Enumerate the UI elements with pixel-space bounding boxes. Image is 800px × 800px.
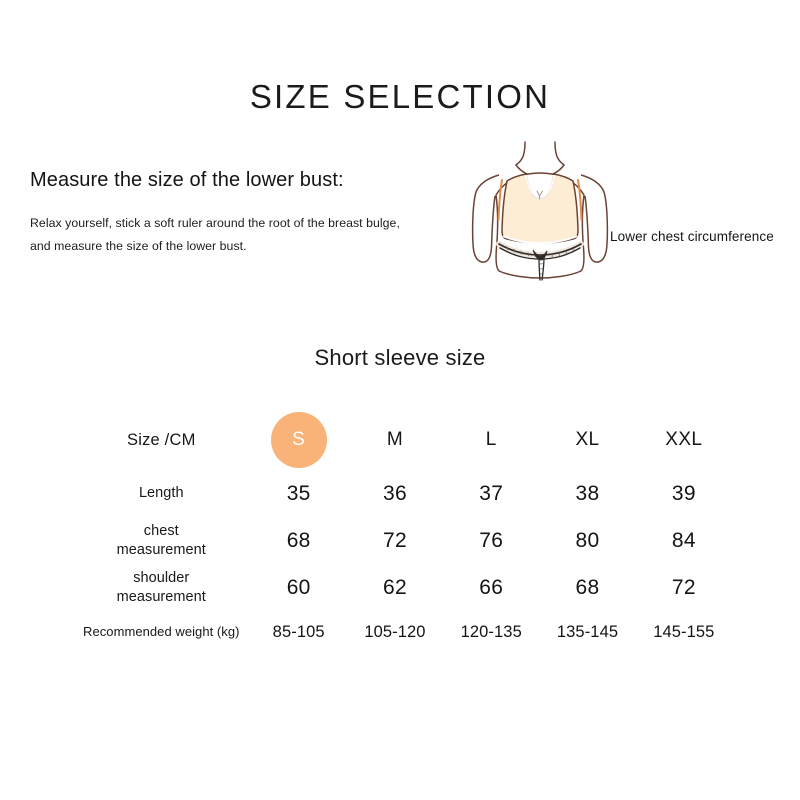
header-cell-s[interactable]: S [251,410,347,470]
header-cell-s-inner: S [251,410,347,470]
right-arm-outline [581,175,607,262]
header-cell-m[interactable]: M [347,410,443,470]
cell-shoulder-m: 62 [347,564,443,611]
cell-shoulder-xxl: 72 [636,564,732,611]
cell-weight-s: 85-105 [251,611,347,653]
cell-weight-l: 120-135 [443,611,539,653]
header-cell-xl-inner: XL [539,410,635,470]
cell-length-xxl: 39 [636,470,732,517]
cell-length-xl: 38 [539,470,635,517]
cell-weight-xxl: 145-155 [636,611,732,653]
table-row-recommended-weight: Recommended weight (kg) 85-105 105-120 1… [72,611,732,653]
header-cell-xl[interactable]: XL [539,410,635,470]
left-arm-outline [473,175,499,262]
measure-heading: Measure the size of the lower bust: [30,168,450,192]
cell-length-m: 36 [347,470,443,517]
table-row-length: Length 35 36 37 38 39 [72,470,732,517]
header-cell-size-label: Size /CM [72,410,251,470]
header-cell-m-inner: M [347,410,443,470]
header-cell-l[interactable]: L [443,410,539,470]
row-label-weight-line-1: Recommended weight (kg) [72,624,251,640]
header-cell-xxl[interactable]: XXL [636,410,732,470]
row-label-cell-shoulder: shoulder measurement [72,564,251,611]
cell-chest-m: 72 [347,517,443,564]
size-option-xxl[interactable]: XXL [665,429,702,451]
row-label-shoulder-line-1: shoulder [72,569,251,587]
measure-body-line-1: Relax yourself, stick a soft ruler aroun… [30,212,450,235]
page-title: SIZE SELECTION [0,78,800,116]
size-unit-label: Size /CM [72,431,251,450]
neck-outline [516,142,564,165]
size-option-s-selected[interactable]: S [271,412,327,468]
table-row-shoulder-measurement: shoulder measurement 60 62 66 68 72 [72,564,732,611]
section-subtitle: Short sleeve size [0,345,800,371]
torso-illustration [455,140,625,300]
size-option-l[interactable]: L [486,429,497,451]
size-option-m[interactable]: M [387,429,403,451]
cell-shoulder-xl: 68 [539,564,635,611]
row-label-chest-line-1: chest [72,522,251,540]
measure-instructions: Measure the size of the lower bust: Rela… [30,168,450,257]
size-chart-table: Size /CM S M L [72,410,732,653]
row-label-chest: chest measurement [72,522,251,558]
row-label-chest-line-2: measurement [72,541,251,559]
row-label-length-line-1: Length [72,484,251,502]
row-label-length: Length [72,484,251,502]
row-label-cell-chest: chest measurement [72,517,251,564]
measure-body-line-2: and measure the size of the lower bust. [30,235,450,258]
table-row-chest-measurement: chest measurement 68 72 76 80 84 [72,517,732,564]
row-label-shoulder: shoulder measurement [72,569,251,605]
size-selection-page: SIZE SELECTION Measure the size of the l… [0,0,800,800]
row-label-weight: Recommended weight (kg) [72,624,251,640]
cell-shoulder-s: 60 [251,564,347,611]
row-label-cell-weight: Recommended weight (kg) [72,611,251,653]
cell-chest-s: 68 [251,517,347,564]
measure-body-text: Relax yourself, stick a soft ruler aroun… [30,212,450,257]
header-cell-xxl-inner: XXL [636,410,732,470]
row-label-cell-length: Length [72,470,251,517]
cell-chest-l: 76 [443,517,539,564]
header-cell-l-inner: L [443,410,539,470]
cell-shoulder-l: 66 [443,564,539,611]
table-header-row: Size /CM S M L [72,410,732,470]
size-option-xl[interactable]: XL [575,429,599,451]
cell-length-l: 37 [443,470,539,517]
row-label-shoulder-line-2: measurement [72,588,251,606]
cell-length-s: 35 [251,470,347,517]
cell-chest-xl: 80 [539,517,635,564]
lower-chest-circumference-label: Lower chest circumference [610,229,774,244]
cell-weight-m: 105-120 [347,611,443,653]
cell-weight-xl: 135-145 [539,611,635,653]
cell-chest-xxl: 84 [636,517,732,564]
